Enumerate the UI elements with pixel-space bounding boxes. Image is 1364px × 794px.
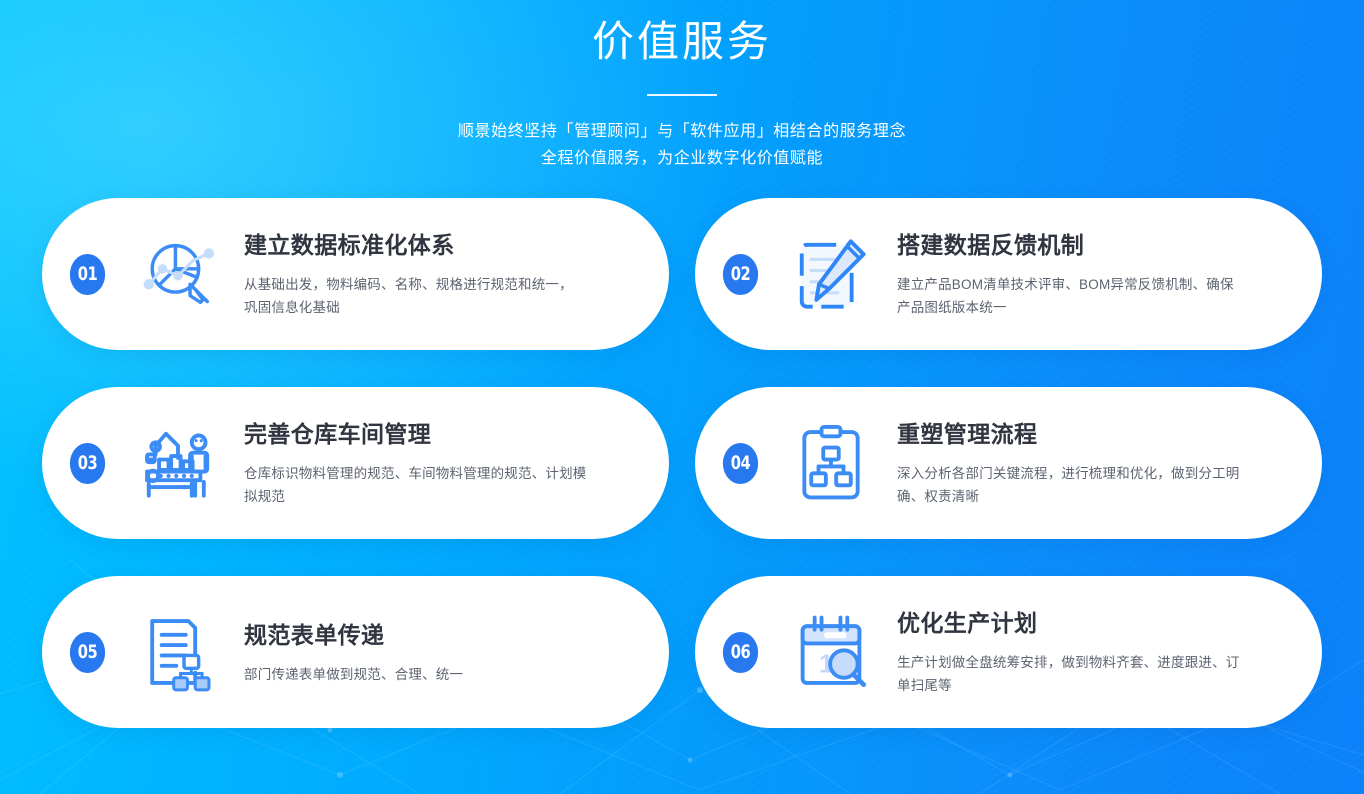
card-title: 建立数据标准化体系 <box>244 229 635 261</box>
title-divider <box>647 94 717 96</box>
card-description: 生产计划做全盘统筹安排，做到物料齐套、进度跟进、订单扫尾等 <box>897 651 1242 697</box>
card-title: 搭建数据反馈机制 <box>897 229 1288 261</box>
card-text-block: 优化生产计划 生产计划做全盘统筹安排，做到物料齐套、进度跟进、订单扫尾等 <box>879 607 1322 697</box>
card-text-block: 重塑管理流程 深入分析各部门关键流程，进行梳理和优化，做到分工明确、权责清晰 <box>879 418 1322 508</box>
clipboard-pencil-icon <box>783 226 879 322</box>
card-number-badge: 01 <box>70 254 105 295</box>
clipboard-org-chart-icon <box>783 415 879 511</box>
card-description: 建立产品BOM清单技术评审、BOM异常反馈机制、确保产品图纸版本统一 <box>897 273 1242 319</box>
service-card-02[interactable]: 02 搭建数据反馈机制 建立产品BOM清单技术评审、BOM异常反馈机制、确保产品… <box>695 198 1322 350</box>
card-title: 优化生产计划 <box>897 607 1288 639</box>
card-text-block: 搭建数据反馈机制 建立产品BOM清单技术评审、BOM异常反馈机制、确保产品图纸版… <box>879 229 1322 319</box>
calendar-magnifier-icon: 11 <box>783 604 879 700</box>
page-title: 价值服务 <box>0 12 1364 72</box>
card-number-badge: 03 <box>70 443 105 484</box>
card-title: 重塑管理流程 <box>897 418 1288 450</box>
service-card-03[interactable]: 03 <box>42 387 669 539</box>
pie-chart-magnifier-icon <box>130 226 226 322</box>
service-card-04[interactable]: 04 重塑管理流程 深入分析各部门关键流程，进行梳理和优化，做到分工明确、权责清… <box>695 387 1322 539</box>
card-number-badge: 04 <box>723 443 758 484</box>
card-title: 规范表单传递 <box>244 619 635 651</box>
card-number-badge: 02 <box>723 254 758 295</box>
factory-conveyor-worker-icon <box>130 415 226 511</box>
card-description: 深入分析各部门关键流程，进行梳理和优化，做到分工明确、权责清晰 <box>897 462 1242 508</box>
card-text-block: 规范表单传递 部门传递表单做到规范、合理、统一 <box>226 619 669 686</box>
subtitle-line-1: 顺景始终坚持「管理顾问」与「软件应用」相结合的服务理念 <box>0 118 1364 145</box>
card-number-badge: 05 <box>70 632 105 673</box>
card-description: 从基础出发，物料编码、名称、规格进行规范和统一，巩固信息化基础 <box>244 273 574 319</box>
service-card-01[interactable]: 01 建立数据标准化体系 <box>42 198 669 350</box>
card-text-block: 建立数据标准化体系 从基础出发，物料编码、名称、规格进行规范和统一，巩固信息化基… <box>226 229 669 319</box>
service-cards-grid: 01 建立数据标准化体系 <box>42 172 1322 728</box>
service-card-05[interactable]: 05 <box>42 576 669 728</box>
card-number-badge: 06 <box>723 632 758 673</box>
subtitle-line-2: 全程价值服务，为企业数字化价值赋能 <box>0 145 1364 172</box>
service-card-06[interactable]: 06 11 优化生产计划 生产计划做全盘统筹安排，做到物料齐套、进度跟进、订单扫… <box>695 576 1322 728</box>
page-subtitle: 顺景始终坚持「管理顾问」与「软件应用」相结合的服务理念 全程价值服务，为企业数字… <box>0 118 1364 172</box>
card-text-block: 完善仓库车间管理 仓库标识物料管理的规范、车间物料管理的规范、计划模拟规范 <box>226 418 669 508</box>
card-description: 仓库标识物料管理的规范、车间物料管理的规范、计划模拟规范 <box>244 462 589 508</box>
document-flowchart-icon <box>130 604 226 700</box>
card-description: 部门传递表单做到规范、合理、统一 <box>244 663 589 686</box>
page-header: 价值服务 顺景始终坚持「管理顾问」与「软件应用」相结合的服务理念 全程价值服务，… <box>0 0 1364 172</box>
card-title: 完善仓库车间管理 <box>244 418 635 450</box>
